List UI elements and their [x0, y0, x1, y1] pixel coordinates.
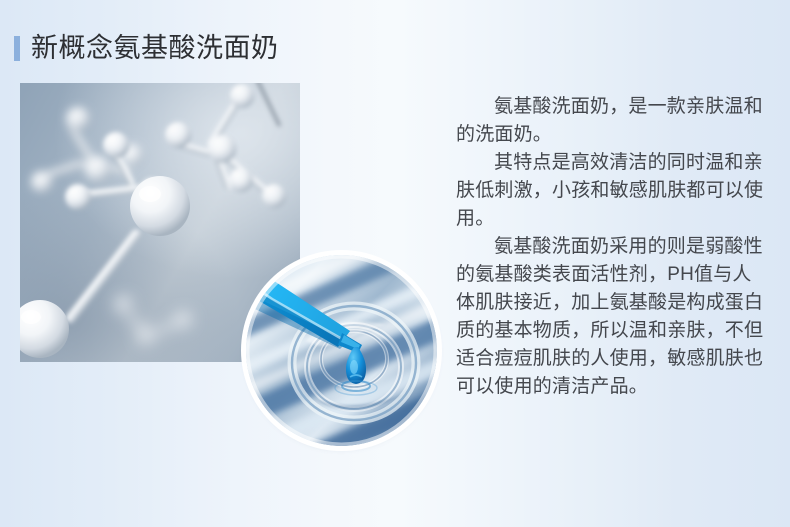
product-detail-page: 新概念氨基酸洗面奶	[0, 0, 790, 527]
pipette-petri-dish-photo	[246, 255, 437, 446]
page-title-text: 新概念氨基酸洗面奶	[31, 33, 279, 63]
product-description: 氨基酸洗面奶，是一款亲肤温和的洗面奶。 其特点是高效清洁的同时温和亲肤低刺激，小…	[456, 93, 768, 401]
description-paragraph: 其特点是高效清洁的同时温和亲肤低刺激，小孩和敏感肌肤都可以使用。	[456, 149, 768, 233]
lab-illustration	[246, 255, 437, 446]
description-paragraph: 氨基酸洗面奶，是一款亲肤温和的洗面奶。	[456, 93, 768, 149]
page-title: 新概念氨基酸洗面奶	[14, 30, 279, 66]
title-accent-bar	[14, 36, 20, 61]
description-paragraph: 氨基酸洗面奶采用的则是弱酸性的氨基酸类表面活性剂，PH值与人体肌肤接近，加上氨基…	[456, 233, 768, 401]
